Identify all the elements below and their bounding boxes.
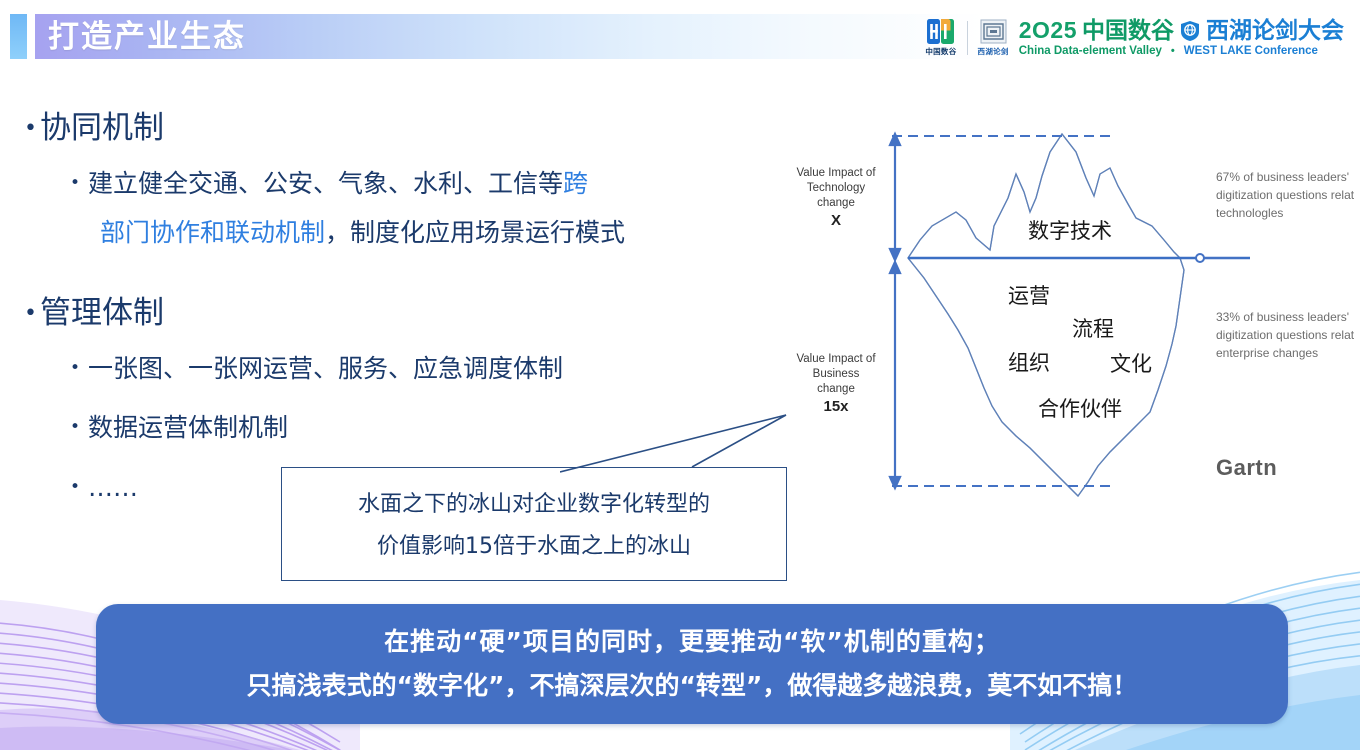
callout-line-1: 水面之下的冰山对企业数字化转型的 — [282, 484, 786, 526]
bullet-text: 管理体制 — [40, 295, 164, 331]
bullet-level1-1: •协同机制 — [24, 102, 164, 147]
iceberg-term-culture: 文化 — [1110, 348, 1152, 378]
label-line-2: Technology — [807, 182, 865, 194]
summary-banner: 在推动“硬”项目的同时，更要推动“软”机制的重构； 只搞浅表式的“数字化”，不搞… — [96, 604, 1288, 724]
bullet-level2-4: •…… — [70, 462, 138, 513]
source-brand-gartner: Gartn — [1216, 455, 1277, 481]
label-technology-impact: Value Impact of Technology change X — [782, 166, 890, 228]
label-line-1: Value Impact of — [796, 353, 875, 365]
bullet-marker: • — [70, 417, 80, 437]
bullet-text-highlight: 跨 — [563, 169, 588, 198]
callout-text: 水面之下的冰山对企业数字化转型的 价值影响15倍于水面之上的冰山 — [282, 484, 786, 568]
label-line-2: Business — [813, 368, 860, 380]
label-value: X — [782, 213, 890, 228]
bullet-level2-1-cont: 部门协作和联动机制，制度化应用场景运行模式 — [100, 208, 625, 258]
iceberg-diagram: Value Impact of Technology change X Valu… — [780, 130, 1360, 510]
iceberg-term-operations: 运营 — [1008, 280, 1050, 310]
bullet-text: ，制度化应用场景运行模式 — [325, 218, 625, 247]
bullet-level1-2: •管理体制 — [24, 287, 164, 332]
bullet-marker: • — [70, 173, 80, 193]
banner-line-2: 只搞浅表式的“数字化”，不搞深层次的“转型”，做得越多越浪费，莫不如不搞！ — [247, 664, 1138, 708]
label-line-3: change — [817, 383, 855, 395]
label-line-3: change — [817, 197, 855, 209]
bullet-level2-3: •数据运营体制机制 — [70, 402, 288, 453]
bullet-text: 一张图、一张网运营、服务、应急调度体制 — [88, 354, 563, 383]
iceberg-term-organization: 组织 — [1008, 347, 1050, 377]
bullet-text: …… — [88, 473, 138, 502]
bullet-marker: • — [70, 358, 80, 378]
bullet-level2-2: •一张图、一张网运营、服务、应急调度体制 — [70, 343, 563, 394]
bullet-level2-1: •建立健全交通、公安、气象、水利、工信等跨 — [70, 158, 588, 209]
banner-line-1: 在推动“硬”项目的同时，更要推动“软”机制的重构； — [384, 620, 1000, 664]
bullet-text: 协同机制 — [40, 110, 164, 146]
callout-line-2: 价值影响15倍于水面之上的冰山 — [282, 526, 786, 568]
annotation-business-stat: 33% of business leaders' digitization qu… — [1216, 308, 1360, 362]
iceberg-term-process: 流程 — [1072, 313, 1114, 343]
iceberg-term-partners: 合作伙伴 — [1038, 393, 1122, 423]
annotation-technology-stat: 67% of business leaders' digitization qu… — [1216, 168, 1360, 222]
bullet-text: 建立健全交通、公安、气象、水利、工信等 — [88, 169, 563, 198]
callout-pointer — [560, 405, 800, 485]
label-line-1: Value Impact of — [796, 167, 875, 179]
bullet-marker: • — [70, 477, 80, 497]
iceberg-term-digital-technology: 数字技术 — [1028, 215, 1112, 245]
bullet-text: 数据运营体制机制 — [88, 413, 288, 442]
bullet-marker: • — [24, 116, 37, 141]
bullet-marker: • — [24, 301, 37, 326]
slide: 打造产业生态 中国数谷 — [0, 0, 1360, 750]
bullet-text-highlight: 部门协作和联动机制 — [100, 218, 325, 247]
